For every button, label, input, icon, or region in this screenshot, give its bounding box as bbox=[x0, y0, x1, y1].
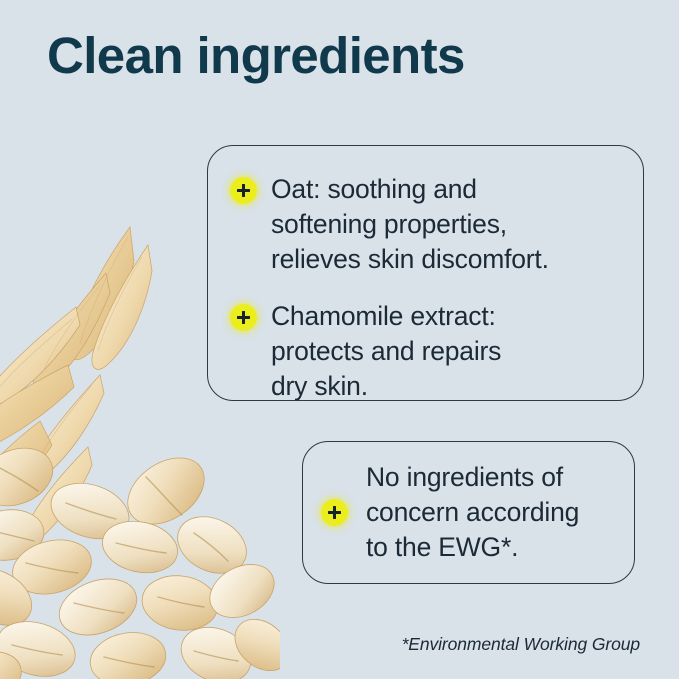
page-title: Clean ingredients bbox=[47, 28, 465, 84]
list-item: Chamomile extract: protects and repairs … bbox=[230, 299, 621, 404]
ingredients-card: Oat: soothing and softening properties, … bbox=[207, 145, 644, 401]
plus-icon bbox=[321, 499, 348, 526]
plus-icon bbox=[230, 304, 257, 331]
list-item: No ingredients of concern according to t… bbox=[321, 460, 579, 565]
promo-panel: Clean ingredients Oat: soothing and soft… bbox=[0, 0, 679, 679]
list-item-label: Chamomile extract: protects and repairs … bbox=[271, 299, 501, 404]
plus-icon bbox=[230, 177, 257, 204]
list-item: Oat: soothing and softening properties, … bbox=[230, 172, 621, 277]
list-item-label: No ingredients of concern according to t… bbox=[366, 460, 579, 565]
list-item-label: Oat: soothing and softening properties, … bbox=[271, 172, 549, 277]
ewg-card: No ingredients of concern according to t… bbox=[302, 441, 635, 584]
footnote: *Environmental Working Group bbox=[402, 634, 640, 655]
